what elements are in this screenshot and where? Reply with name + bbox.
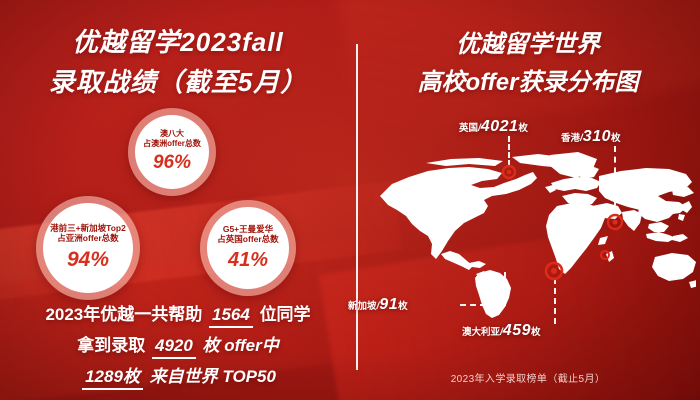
right-title-line2: 高校offer获录分布图 — [356, 62, 700, 97]
badge-percent: 41% — [217, 249, 278, 273]
stat-badge-uk: G5+王曼爱华 占英国offer总数 41% — [200, 200, 296, 296]
map-label-quantity: 4021 — [481, 118, 519, 135]
leader-line-hk — [614, 146, 616, 216]
stat-badge-asia: 港前三+新加坡Top2 占亚洲offer总数 94% — [36, 196, 140, 300]
badge-caption-line1: 港前三+新加坡Top2 — [50, 223, 126, 233]
badge-text: 澳八大 占澳洲offer总数 96% — [143, 129, 201, 174]
badge-caption-line2: 占亚洲offer总数 — [50, 233, 126, 243]
map-label-region: 澳大利亚 — [462, 327, 500, 338]
summary-stat-students: 2023年优越一共帮助 1564 位同学 — [0, 300, 356, 328]
stat-suffix: 枚 offer中 — [203, 336, 279, 355]
map-label-singapore: 新加坡/91枚 — [348, 296, 408, 314]
map-caption: 2023年入学录取榜单（截止5月） — [356, 370, 700, 385]
summary-stat-offers: 拿到录取 4920 枚 offer中 — [0, 331, 356, 359]
map-label-unit: 枚 — [531, 327, 541, 338]
stat-suffix: 来自世界 TOP50 — [150, 367, 276, 386]
map-label-unit: 枚 — [611, 133, 621, 144]
map-label-quantity: 310 — [583, 128, 611, 145]
badge-caption-line1: 澳八大 — [143, 129, 201, 138]
map-label-quantity: 91 — [379, 296, 398, 313]
stat-prefix: 拿到录取 — [77, 336, 145, 355]
leader-line-australia — [554, 278, 556, 324]
badge-text: 港前三+新加坡Top2 占亚洲offer总数 94% — [50, 223, 126, 273]
leader-line-uk — [508, 136, 510, 166]
left-title-line2: 录取战绩（截至5月） — [0, 62, 356, 99]
badge-caption-line2: 占澳洲offer总数 — [143, 139, 201, 148]
left-panel: 优越留学2023fall 录取战绩（截至5月） 澳八大 占澳洲offer总数 9… — [0, 0, 356, 400]
map-label-hongkong: 香港/310枚 — [561, 128, 621, 146]
stat-number: 1289枚 — [82, 362, 143, 390]
map-label-unit: 枚 — [518, 123, 528, 134]
summary-stat-top50: 1289枚 来自世界 TOP50 — [0, 362, 356, 390]
badge-caption-line2: 占英国offer总数 — [217, 234, 278, 244]
leader-line-singapore-horizontal — [460, 304, 506, 306]
stat-number: 4920 — [152, 336, 196, 359]
map-label-quantity: 459 — [503, 322, 531, 339]
right-panel: 优越留学世界 高校offer获录分布图 — [356, 0, 700, 400]
right-title-line1: 优越留学世界 — [356, 24, 700, 59]
map-label-region: 英国 — [459, 123, 478, 134]
badge-caption-line1: G5+王曼爱华 — [217, 224, 278, 234]
map-label-unit: 枚 — [398, 301, 408, 312]
poster-root: 优越留学2023fall 录取战绩（截至5月） 澳八大 占澳洲offer总数 9… — [0, 0, 700, 400]
stat-suffix: 位同学 — [260, 305, 311, 324]
map-label-region: 香港 — [561, 133, 580, 144]
map-label-uk: 英国/4021枚 — [459, 118, 528, 136]
leader-line-singapore-vertical — [504, 272, 506, 306]
stat-badge-australia: 澳八大 占澳洲offer总数 96% — [128, 108, 216, 196]
stat-prefix: 2023年优越一共帮助 — [45, 305, 202, 324]
left-title-line1: 优越留学2023fall — [0, 22, 356, 59]
stat-number: 1564 — [209, 305, 253, 328]
badge-text: G5+王曼爱华 占英国offer总数 41% — [217, 224, 278, 273]
map-label-region: 新加坡 — [348, 301, 377, 312]
world-map-landmasses — [380, 152, 696, 318]
badge-percent: 94% — [50, 248, 126, 273]
badge-percent: 96% — [143, 152, 201, 174]
world-map — [366, 148, 696, 318]
map-label-australia: 澳大利亚/459枚 — [462, 322, 541, 340]
